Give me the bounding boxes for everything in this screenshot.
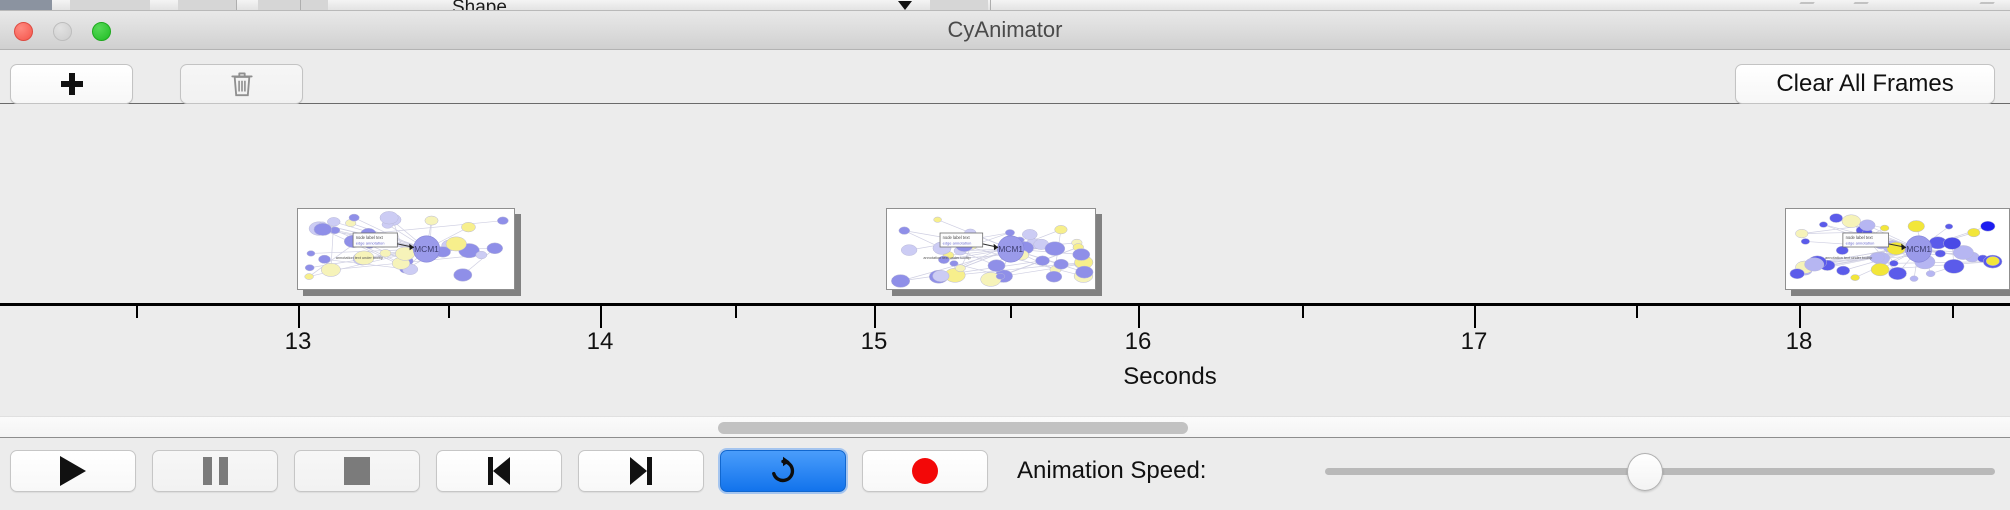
play-icon [60, 456, 86, 486]
graph-caption: annotation text under tooltip [923, 256, 970, 260]
bg-fragment [1975, 2, 1995, 10]
timeline-tick-major [1474, 306, 1476, 328]
window-titlebar: CyAnimator [0, 11, 2010, 50]
bg-divider [990, 0, 991, 11]
graph-tooltip-line-2: edge annotation [356, 240, 385, 245]
bg-divider [300, 0, 301, 11]
slider-thumb[interactable] [1627, 453, 1663, 491]
skip-previous-icon [488, 457, 510, 485]
network-graph: MCM1node label textedge annotationannota… [298, 209, 514, 289]
frames-toolbar: Clear All Frames [0, 50, 2010, 104]
bg-fragment [930, 0, 988, 11]
bg-fragment [0, 0, 52, 11]
timeline-tick-major [1799, 306, 1801, 328]
add-frame-button[interactable] [10, 64, 133, 104]
graph-tooltip-line-1: node label text [943, 235, 971, 240]
delete-frame-button[interactable] [180, 64, 303, 104]
graph-tooltip-line-2: edge annotation [943, 240, 972, 245]
clear-all-frames-label: Clear All Frames [1776, 70, 1953, 98]
background-window-strip: Shape [0, 0, 2010, 11]
graph-caption: annotation text under tooltip [1825, 256, 1872, 260]
animation-speed-label: Animation Speed: [1017, 450, 1206, 492]
timeline-tick-major [298, 306, 300, 328]
record-icon [912, 458, 938, 484]
timeline-tick-major [600, 306, 602, 328]
bg-cursor-fragment [898, 1, 912, 10]
loop-button[interactable] [720, 450, 846, 492]
hub-node-label: MCM1 [998, 244, 1023, 254]
timeline-tick-major [1138, 306, 1140, 328]
timeline-tick-label: 17 [1461, 328, 1488, 356]
record-button[interactable] [862, 450, 988, 492]
timeline-tick-minor [1302, 306, 1304, 318]
window-title: CyAnimator [0, 11, 2010, 50]
bg-fragment [1849, 2, 1869, 10]
timeline-tick-minor [735, 306, 737, 318]
timeline-tick-label: 18 [1786, 328, 1813, 356]
play-button[interactable] [10, 450, 136, 492]
timeline-horizontal-scrollbar[interactable] [0, 416, 2010, 438]
graph-tooltip-line-2: edge annotation [1846, 240, 1875, 245]
frame-thumbnail-3[interactable]: MCM1node label textedge annotationannota… [1785, 208, 2010, 290]
scrollbar-thumb[interactable] [718, 422, 1188, 434]
timeline-tick-minor [1636, 306, 1638, 318]
trash-icon [229, 70, 255, 98]
timeline-tick-minor [1952, 306, 1954, 318]
skip-to-end-button[interactable] [578, 450, 704, 492]
bg-divider [236, 0, 237, 11]
stop-icon [344, 457, 370, 485]
clear-all-frames-button[interactable]: Clear All Frames [1735, 64, 1995, 104]
playback-control-bar: Animation Speed: [0, 438, 2010, 508]
frame-thumbnail-image: MCM1node label textedge annotationannota… [886, 208, 1096, 290]
timeline-tick-label: 13 [285, 328, 312, 356]
plus-icon [60, 72, 84, 96]
bg-fragment [258, 0, 328, 11]
hub-node-label: MCM1 [1906, 244, 1931, 254]
hub-node-label: MCM1 [414, 244, 439, 254]
bg-fragment [70, 0, 150, 11]
pause-button[interactable] [152, 450, 278, 492]
network-graph: MCM1node label textedge annotationannota… [887, 209, 1095, 289]
timeline-tick-minor [136, 306, 138, 318]
animation-speed-slider[interactable] [1325, 450, 1995, 492]
cyanimator-window: CyAnimator Clear All Frames MCM1node lab… [0, 11, 2010, 510]
loop-icon [768, 456, 798, 486]
timeline-tick-label: 16 [1125, 328, 1152, 356]
timeline-tick-minor [448, 306, 450, 318]
bg-fragment [1795, 2, 1815, 10]
graph-tooltip-line-1: node label text [356, 235, 384, 240]
timeline-axis-title: Seconds [1123, 363, 1216, 391]
bg-fragment [178, 0, 236, 11]
timeline-panel[interactable]: MCM1node label textedge annotationannota… [0, 104, 2010, 416]
timeline-tick-label: 15 [861, 328, 888, 356]
timeline-tick-label: 2 [0, 328, 1, 356]
timeline-axis [0, 303, 2010, 306]
timeline-tick-label: 14 [587, 328, 614, 356]
background-window-label: Shape [452, 0, 507, 11]
graph-caption: annotation text under tooltip [336, 256, 383, 260]
frame-thumbnail-image: MCM1node label textedge annotationannota… [1785, 208, 2010, 290]
frame-thumbnail-1[interactable]: MCM1node label textedge annotationannota… [297, 208, 515, 290]
frame-thumbnail-2[interactable]: MCM1node label textedge annotationannota… [886, 208, 1096, 290]
timeline-tick-minor [1010, 306, 1012, 318]
skip-next-icon [630, 457, 652, 485]
network-graph: MCM1node label textedge annotationannota… [1786, 209, 2009, 289]
graph-tooltip-line-1: node label text [1846, 235, 1874, 240]
timeline-tick-major [874, 306, 876, 328]
skip-to-start-button[interactable] [436, 450, 562, 492]
frame-thumbnail-image: MCM1node label textedge annotationannota… [297, 208, 515, 290]
pause-icon [203, 457, 228, 485]
stop-button[interactable] [294, 450, 420, 492]
